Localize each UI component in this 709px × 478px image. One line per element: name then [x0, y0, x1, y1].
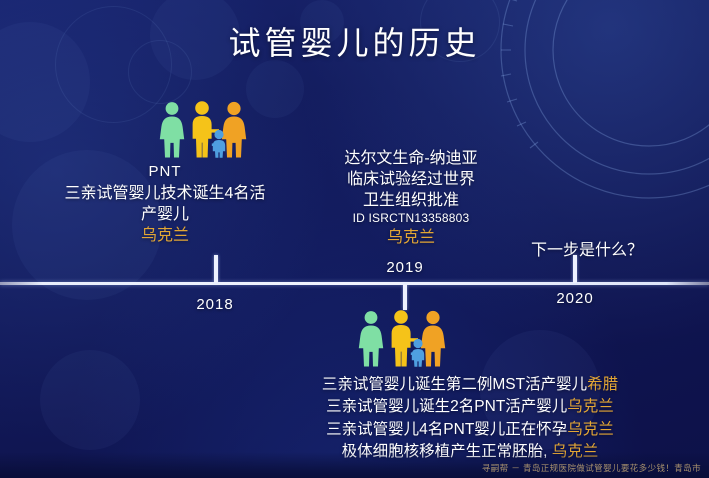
timeline-year-2020: 2020 — [556, 290, 593, 307]
female-figure-orange — [222, 102, 246, 158]
page-title: 试管婴儿的历史 — [0, 18, 709, 64]
text-block-bottom: 三亲试管婴儿诞生第二例MST活产婴儿希腊 三亲试管婴儿诞生2名PNT活产婴儿乌克… — [270, 374, 670, 463]
child-figure-blue — [411, 339, 424, 367]
bokeh-circle — [40, 350, 140, 450]
text-block-left: PNT 三亲试管婴儿技术诞生4名活 产婴儿 乌克兰 — [30, 162, 300, 246]
timeline-tick-2019 — [403, 284, 407, 310]
middle-line-2: 临床试验经过世界 — [316, 169, 506, 190]
next-step-question: 下一步是什么？ — [492, 240, 682, 261]
timeline-tick-2018 — [214, 255, 218, 283]
middle-trial-id: ID ISRCTN13358803 — [316, 211, 506, 227]
bottom-row: 极体细胞核移植产生正常胚胎, 乌克兰 — [270, 441, 670, 463]
bottom-row: 三亲试管婴儿4名PNT婴儿正在怀孕乌克兰 — [270, 419, 670, 441]
female-figure-green — [359, 311, 383, 366]
left-line-1: 三亲试管婴儿技术诞生4名活 — [30, 183, 300, 204]
watermark-text: 寻嗣帮 － 青岛正规医院做试管婴儿要花多少钱！青岛市 — [482, 462, 701, 474]
bottom-row-country: 乌克兰 — [567, 421, 614, 438]
bottom-row-text: 极体细胞核移植产生正常胚胎, — [342, 443, 548, 460]
pnt-heading: PNT — [30, 162, 300, 182]
text-block-middle: 达尔文生命-纳迪亚 临床试验经过世界 卫生组织批准 ID ISRCTN13358… — [316, 148, 506, 248]
bokeh-circle — [246, 60, 304, 118]
middle-country: 乌克兰 — [316, 227, 506, 248]
bottom-row-text: 三亲试管婴儿诞生2名PNT活产婴儿 — [326, 398, 567, 415]
middle-line-1: 达尔文生命-纳迪亚 — [316, 148, 506, 169]
timeline-year-2018: 2018 — [196, 296, 233, 313]
female-figure-green — [160, 102, 184, 157]
slide-root: 试管婴儿的历史 PNT 三亲试管婴儿技术诞生4名活 产婴儿 乌克兰 — [0, 0, 709, 478]
timeline-year-2019: 2019 — [386, 259, 423, 276]
bottom-row-country: 乌克兰 — [567, 398, 614, 415]
bottom-row-country: 希腊 — [587, 376, 618, 393]
bottom-row-country: 乌克兰 — [552, 443, 599, 460]
family-icon-top — [158, 101, 254, 163]
timeline-axis — [0, 282, 709, 285]
female-figure-orange — [421, 311, 445, 367]
left-line-2: 产婴儿 — [30, 204, 300, 225]
timeline-tick-2020 — [573, 255, 577, 283]
bottom-row: 三亲试管婴儿诞生2名PNT活产婴儿乌克兰 — [270, 396, 670, 418]
bottom-row: 三亲试管婴儿诞生第二例MST活产婴儿希腊 — [270, 374, 670, 396]
child-figure-blue — [212, 130, 225, 158]
left-country: 乌克兰 — [30, 225, 300, 246]
text-block-right: 下一步是什么？ — [492, 240, 682, 261]
bottom-row-text: 三亲试管婴儿诞生第二例MST活产婴儿 — [322, 376, 587, 393]
middle-line-3: 卫生组织批准 — [316, 190, 506, 211]
family-icon-bottom — [357, 310, 453, 372]
bottom-row-text: 三亲试管婴儿4名PNT婴儿正在怀孕 — [326, 421, 567, 438]
